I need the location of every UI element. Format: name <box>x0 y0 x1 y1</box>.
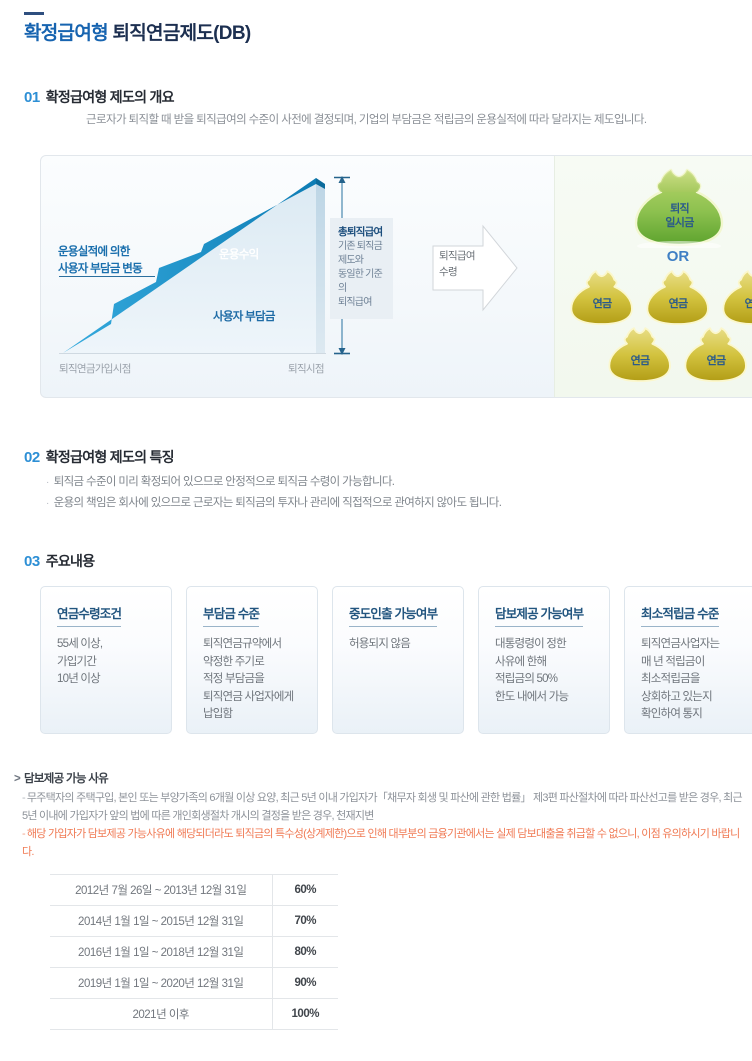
table-body: 2012년 7월 26일 ~ 2013년 12월 31일 60% 2014년 1… <box>50 875 338 1030</box>
section-number: 01 <box>24 89 40 106</box>
pension-bag-5-label: 연금 <box>679 354 752 368</box>
note-red-text: -해당 가입자가 담보제공 가능사유에 해당되더라도 퇴직금의 특수성(상계제한… <box>22 825 748 861</box>
chart-axis-label-end: 퇴직시점 <box>288 361 324 376</box>
table-cell-rate: 90% <box>272 968 338 999</box>
total-benefit-body: 기존 퇴직금 제도와 동일한 기준의 퇴직급여 <box>338 240 386 310</box>
min-reserve-rate-table: 2012년 7월 26일 ~ 2013년 12월 31일 60% 2014년 1… <box>50 874 338 1030</box>
pension-bag-2-label: 연금 <box>641 297 715 311</box>
page-title-rest: 퇴직연금제도(DB) <box>108 23 251 44</box>
table-cell-period: 2014년 1월 1일 ~ 2015년 12월 31일 <box>50 906 272 937</box>
chart-label-yield: 운용수익 <box>219 246 259 262</box>
bullet-dot-icon: · <box>46 498 49 509</box>
note-gray-text: -무주택자의 주택구입, 본인 또는 부양가족의 6개월 이상 요양, 최근 5… <box>22 789 748 825</box>
feature-list: ·퇴직금 수준이 미리 확정되어 있으므로 안정적으로 퇴직금 수령이 가능합니… <box>46 472 501 514</box>
db-plan-diagram: 운용실적에 의한 사용자 부담금 변동 운용수익 사용자 부담금 퇴직연금가입시… <box>40 155 752 398</box>
chart-label-contribution: 사용자 부담금 <box>213 308 275 324</box>
card-contribution-level: 부담금 수준 퇴직연금규약에서 약정한 주기로 적정 부담금을 퇴직연금 사업자… <box>186 586 318 734</box>
note-red-body: 해당 가입자가 담보제공 가능사유에 해당되더라도 퇴직금의 특수성(상계제한)… <box>22 828 740 858</box>
card-title: 부담금 수준 <box>203 603 259 627</box>
total-benefit-callout: 총퇴직급여 기존 퇴직금 제도와 동일한 기준의 퇴직급여 <box>330 218 393 319</box>
or-separator: OR <box>555 248 752 265</box>
chart-label-variation: 운용실적에 의한 사용자 부담금 변동 <box>58 244 142 278</box>
table-cell-period: 2016년 1월 1일 ~ 2018년 12월 31일 <box>50 937 272 968</box>
note-dash-icon: - <box>22 828 25 840</box>
pension-bag-4-label: 연금 <box>603 354 677 368</box>
note-heading: >담보제공 가능 사유 <box>14 770 108 786</box>
pension-bag-1: 연금 <box>565 269 639 327</box>
card-title: 중도인출 가능여부 <box>349 603 437 627</box>
card-title: 연금수령조건 <box>57 603 121 627</box>
note-dash-icon: - <box>22 792 25 804</box>
table-row: 2021년 이후 100% <box>50 999 338 1030</box>
feature-list-item: ·퇴직금 수준이 미리 확정되어 있으므로 안정적으로 퇴직금 수령이 가능합니… <box>46 472 501 493</box>
pension-bag-5: 연금 <box>679 326 752 384</box>
table-cell-rate: 60% <box>272 875 338 906</box>
feature-list-item: ·운용의 책임은 회사에 있으므로 근로자는 퇴직금의 투자나 관리에 직접적으… <box>46 493 501 514</box>
payout-arrow: 퇴직급여 수령 <box>431 224 521 312</box>
note-gray-body: 무주택자의 주택구입, 본인 또는 부양가족의 6개월 이상 요양, 최근 5년… <box>22 792 742 822</box>
table-cell-period: 2019년 1월 1일 ~ 2020년 12월 31일 <box>50 968 272 999</box>
table-row: 2016년 1월 1일 ~ 2018년 12월 31일 80% <box>50 937 338 968</box>
card-body: 55세 이상, 가입기간 10년 이상 <box>57 636 171 689</box>
total-benefit-title: 총퇴직급여 <box>338 225 386 240</box>
table-cell-period: 2012년 7월 26일 ~ 2013년 12월 31일 <box>50 875 272 906</box>
bullet-dot-icon: · <box>46 477 49 488</box>
pension-bag-1-label: 연금 <box>565 297 639 311</box>
card-body: 퇴직연금사업자는 매 년 적립금이 최소적립금을 상회하고 있는지 확인하여 통… <box>641 636 752 724</box>
pension-bag-2: 연금 <box>641 269 715 327</box>
card-mid-withdrawal: 중도인출 가능여부 허용되지 않음 <box>332 586 464 734</box>
accumulation-chart: 운용실적에 의한 사용자 부담금 변동 운용수익 사용자 부담금 퇴직연금가입시… <box>41 156 423 398</box>
table-row: 2014년 1월 1일 ~ 2015년 12월 31일 70% <box>50 906 338 937</box>
table-row: 2019년 1월 1일 ~ 2020년 12월 31일 90% <box>50 968 338 999</box>
lump-sum-bag: 퇴직 일시금 <box>627 168 732 248</box>
section-number: 02 <box>24 449 40 466</box>
card-pension-conditions: 연금수령조건 55세 이상, 가입기간 10년 이상 <box>40 586 172 734</box>
page-root: 확정급여형 퇴직연금제도(DB) 01확정급여형 제도의 개요 근로자가 퇴직할… <box>0 0 752 1061</box>
page-title-accent: 확정급여형 <box>24 23 108 44</box>
table-cell-period: 2021년 이후 <box>50 999 272 1030</box>
section-heading-01: 01확정급여형 제도의 개요 <box>24 87 174 107</box>
card-body: 퇴직연금규약에서 약정한 주기로 적정 부담금을 퇴직연금 사업자에게 납입함 <box>203 636 317 724</box>
section-title: 확정급여형 제도의 특징 <box>46 449 174 465</box>
section-heading-02: 02확정급여형 제도의 특징 <box>24 447 174 467</box>
table-cell-rate: 80% <box>272 937 338 968</box>
pension-bag-3: 연금 <box>717 269 752 327</box>
note-heading-text: 담보제공 가능 사유 <box>24 773 108 785</box>
chevron-right-icon: > <box>14 773 20 785</box>
pension-bag-3-label: 연금 <box>717 297 752 311</box>
pension-bag-4: 연금 <box>603 326 677 384</box>
feature-text: 퇴직금 수준이 미리 확정되어 있으므로 안정적으로 퇴직금 수령이 가능합니다… <box>54 476 395 488</box>
section-heading-03: 03주요내용 <box>24 551 94 571</box>
card-title: 최소적립금 수준 <box>641 603 719 627</box>
card-collateral: 담보제공 가능여부 대통령령이 정한 사유에 한해 적립금의 50% 한도 내에… <box>478 586 610 734</box>
section-title: 주요내용 <box>46 553 95 569</box>
card-body: 허용되지 않음 <box>349 636 463 654</box>
table-cell-rate: 100% <box>272 999 338 1030</box>
card-title: 담보제공 가능여부 <box>495 603 583 627</box>
title-rule <box>24 12 44 15</box>
section-01-description: 근로자가 퇴직할 때 받을 퇴직급여의 수준이 사전에 결정되며, 기업의 부담… <box>86 111 646 127</box>
card-body: 대통령령이 정한 사유에 한해 적립금의 50% 한도 내에서 가능 <box>495 636 609 706</box>
feature-text: 운용의 책임은 회사에 있으므로 근로자는 퇴직금의 투자나 관리에 직접적으로… <box>54 497 502 509</box>
section-number: 03 <box>24 553 40 570</box>
chart-axis-label-start: 퇴직연금가입시점 <box>59 361 131 376</box>
section-title: 확정급여형 제도의 개요 <box>46 89 174 105</box>
lump-sum-bag-label: 퇴직 일시금 <box>627 202 732 230</box>
payout-options-panel: 퇴직 일시금 OR 연금 <box>554 156 752 398</box>
table-row: 2012년 7월 26일 ~ 2013년 12월 31일 60% <box>50 875 338 906</box>
page-title: 확정급여형 퇴직연금제도(DB) <box>24 18 250 45</box>
table-cell-rate: 70% <box>272 906 338 937</box>
card-min-reserve: 최소적립금 수준 퇴직연금사업자는 매 년 적립금이 최소적립금을 상회하고 있… <box>624 586 752 734</box>
payout-arrow-label: 퇴직급여 수령 <box>439 248 475 280</box>
